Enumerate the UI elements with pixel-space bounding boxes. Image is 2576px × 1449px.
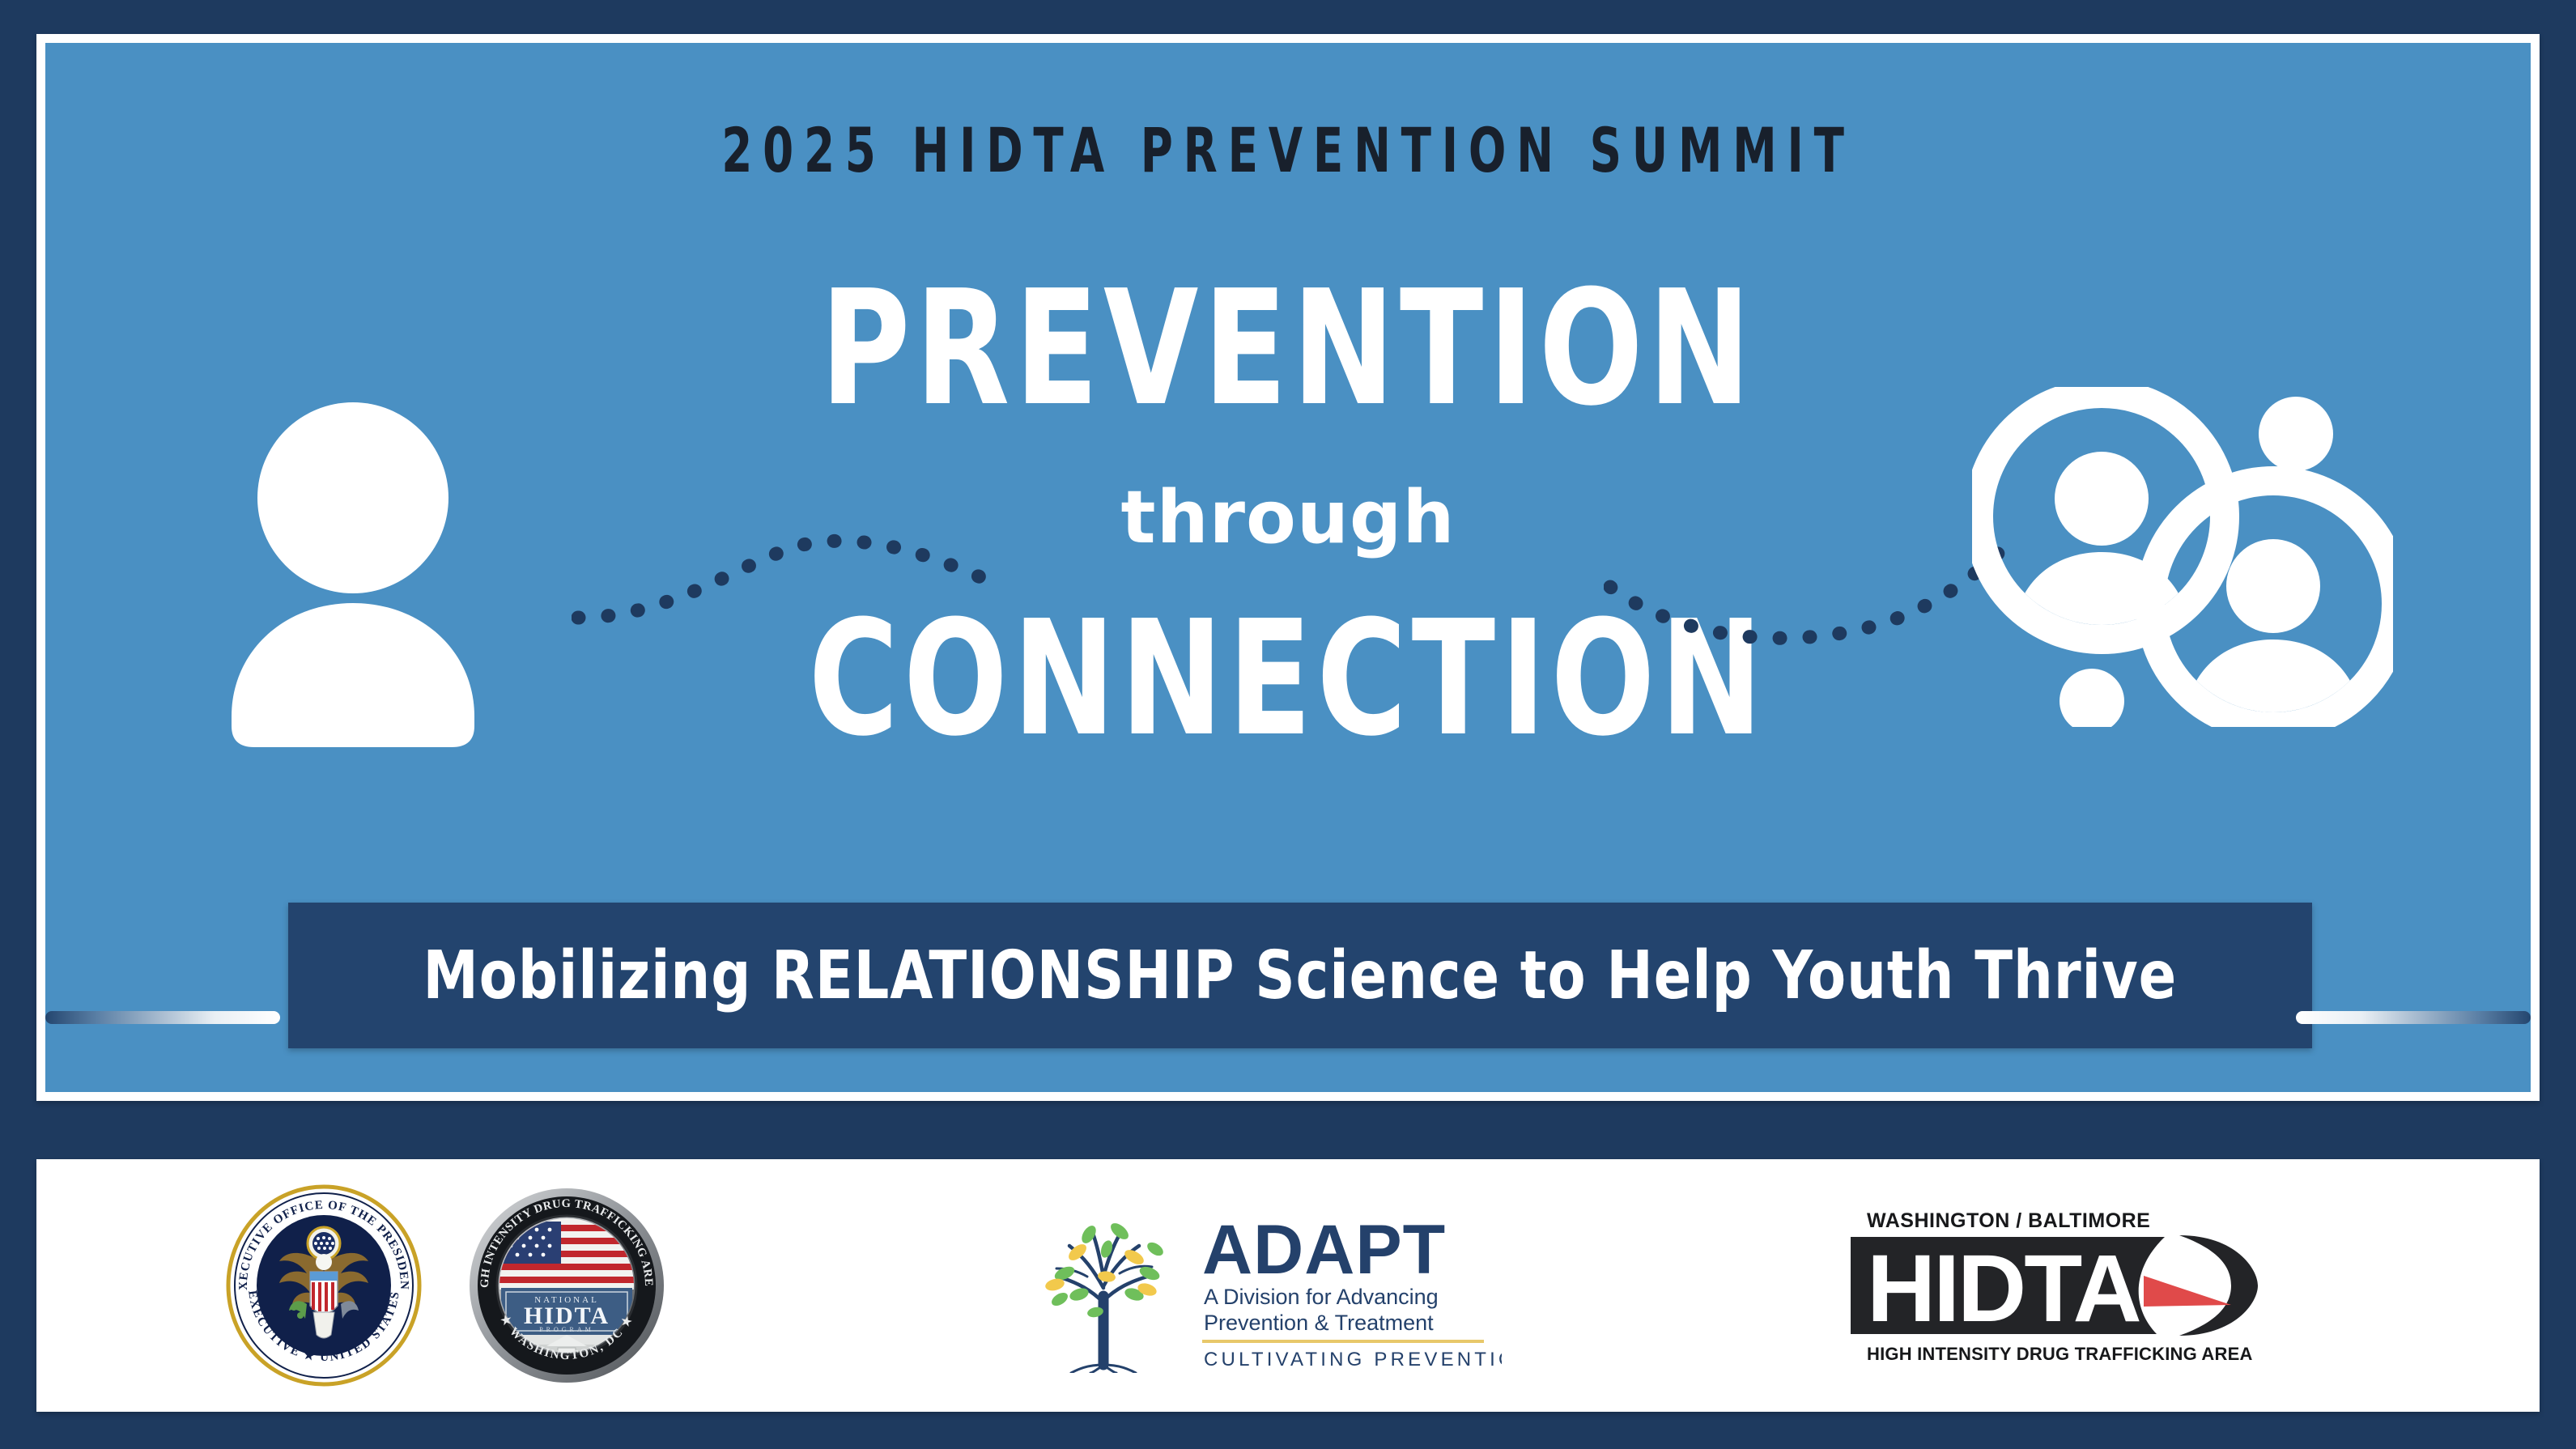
government-seals-group: EXECUTIVE OFFICE OF THE PRESIDENT ★ EXEC… (36, 1184, 830, 1387)
accent-rule-right (2296, 1011, 2531, 1024)
hero-panel: 2025 HIDTA PREVENTION SUMMIT PREVENTION … (36, 34, 2540, 1101)
wb-hidta-expansion: HIGH INTENSITY DRUG TRAFFICKING AREA (1867, 1344, 2253, 1364)
washington-baltimore-hidta-logo: WASHINGTON / BALTIMORE HIDTA HIGH INTENS… (1688, 1203, 2540, 1369)
adapt-wordmark: ADAPT (1202, 1211, 1446, 1289)
adapt-logo: ADAPT A Division for Advancing Preventio… (830, 1199, 1688, 1373)
connected-people-group-icon (1972, 387, 2393, 727)
subtitle-banner: Mobilizing RELATIONSHIP Science to Help … (288, 903, 2312, 1048)
executive-office-of-the-president-seal: EXECUTIVE OFFICE OF THE PRESIDENT ★ EXEC… (223, 1184, 425, 1387)
hero-panel-inner: 2025 HIDTA PREVENTION SUMMIT PREVENTION … (45, 43, 2531, 1092)
wb-hidta-region: WASHINGTON / BALTIMORE (1867, 1209, 2150, 1232)
subtitle-text: Mobilizing RELATIONSHIP Science to Help … (423, 937, 2178, 1014)
adapt-tagline-1: A Division for Advancing (1204, 1285, 1439, 1309)
adapt-divider (1202, 1340, 1484, 1343)
single-person-icon (207, 399, 499, 747)
poster-root: 2025 HIDTA PREVENTION SUMMIT PREVENTION … (0, 0, 2576, 1449)
footer-logo-bar: EXECUTIVE OFFICE OF THE PRESIDENT ★ EXEC… (36, 1159, 2540, 1412)
svg-text:PROGRAM: PROGRAM (539, 1326, 594, 1333)
dotted-arc-icon (572, 496, 1009, 634)
dotted-arc-icon (1604, 529, 2009, 658)
wb-hidta-wordmark: HIDTA (1867, 1235, 2140, 1342)
national-hidta-program-seal: NATIONAL HIDTA PROGRAM (465, 1184, 668, 1387)
tree-icon (1044, 1220, 1166, 1373)
adapt-tagline-2: Prevention & Treatment (1204, 1311, 1434, 1335)
hidta-red-arrow (2144, 1276, 2231, 1307)
page-title: 2025 HIDTA PREVENTION SUMMIT (294, 114, 2282, 186)
adapt-strapline: CULTIVATING PREVENTION (1204, 1349, 1502, 1370)
accent-rule-left (45, 1011, 280, 1024)
